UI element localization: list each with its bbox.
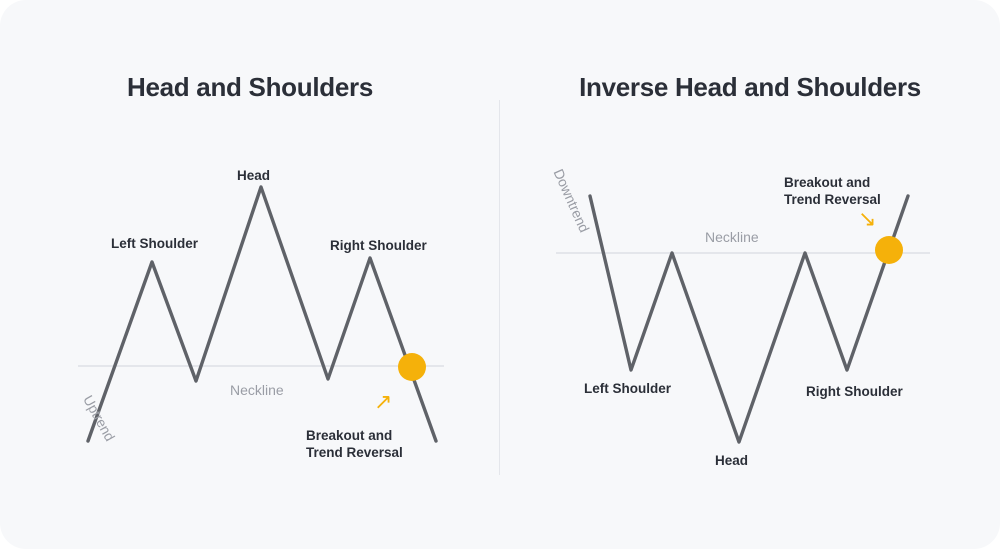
panel-inverse-head-and-shoulders: Inverse Head and Shoulders Head Left Sho… [500,0,1000,549]
label-right-shoulder: Right Shoulder [806,383,903,401]
label-neckline: Neckline [705,228,759,246]
arrow-down-right-icon: ↘ [858,209,876,231]
chart-inverse-head-and-shoulders [500,0,1000,549]
label-right-shoulder: Right Shoulder [330,237,427,255]
label-breakout-line1: Breakout and [784,174,870,192]
label-breakout-line1: Breakout and [306,427,392,445]
breakout-marker[interactable] [398,353,426,381]
label-neckline: Neckline [230,381,284,399]
chart-head-and-shoulders [0,0,500,549]
label-breakout-line2: Trend Reversal [306,444,403,462]
page-root: Head and Shoulders Head Left Shoulder Ri… [0,0,1000,549]
arrow-up-right-icon: ↗ [374,392,392,414]
diagram-card: Head and Shoulders Head Left Shoulder Ri… [0,0,1000,549]
label-head: Head [237,167,270,185]
panel-head-and-shoulders: Head and Shoulders Head Left Shoulder Ri… [0,0,500,549]
breakout-marker[interactable] [875,236,903,264]
label-head: Head [715,452,748,470]
label-left-shoulder: Left Shoulder [584,380,671,398]
label-breakout-line2: Trend Reversal [784,191,881,209]
label-left-shoulder: Left Shoulder [111,235,198,253]
